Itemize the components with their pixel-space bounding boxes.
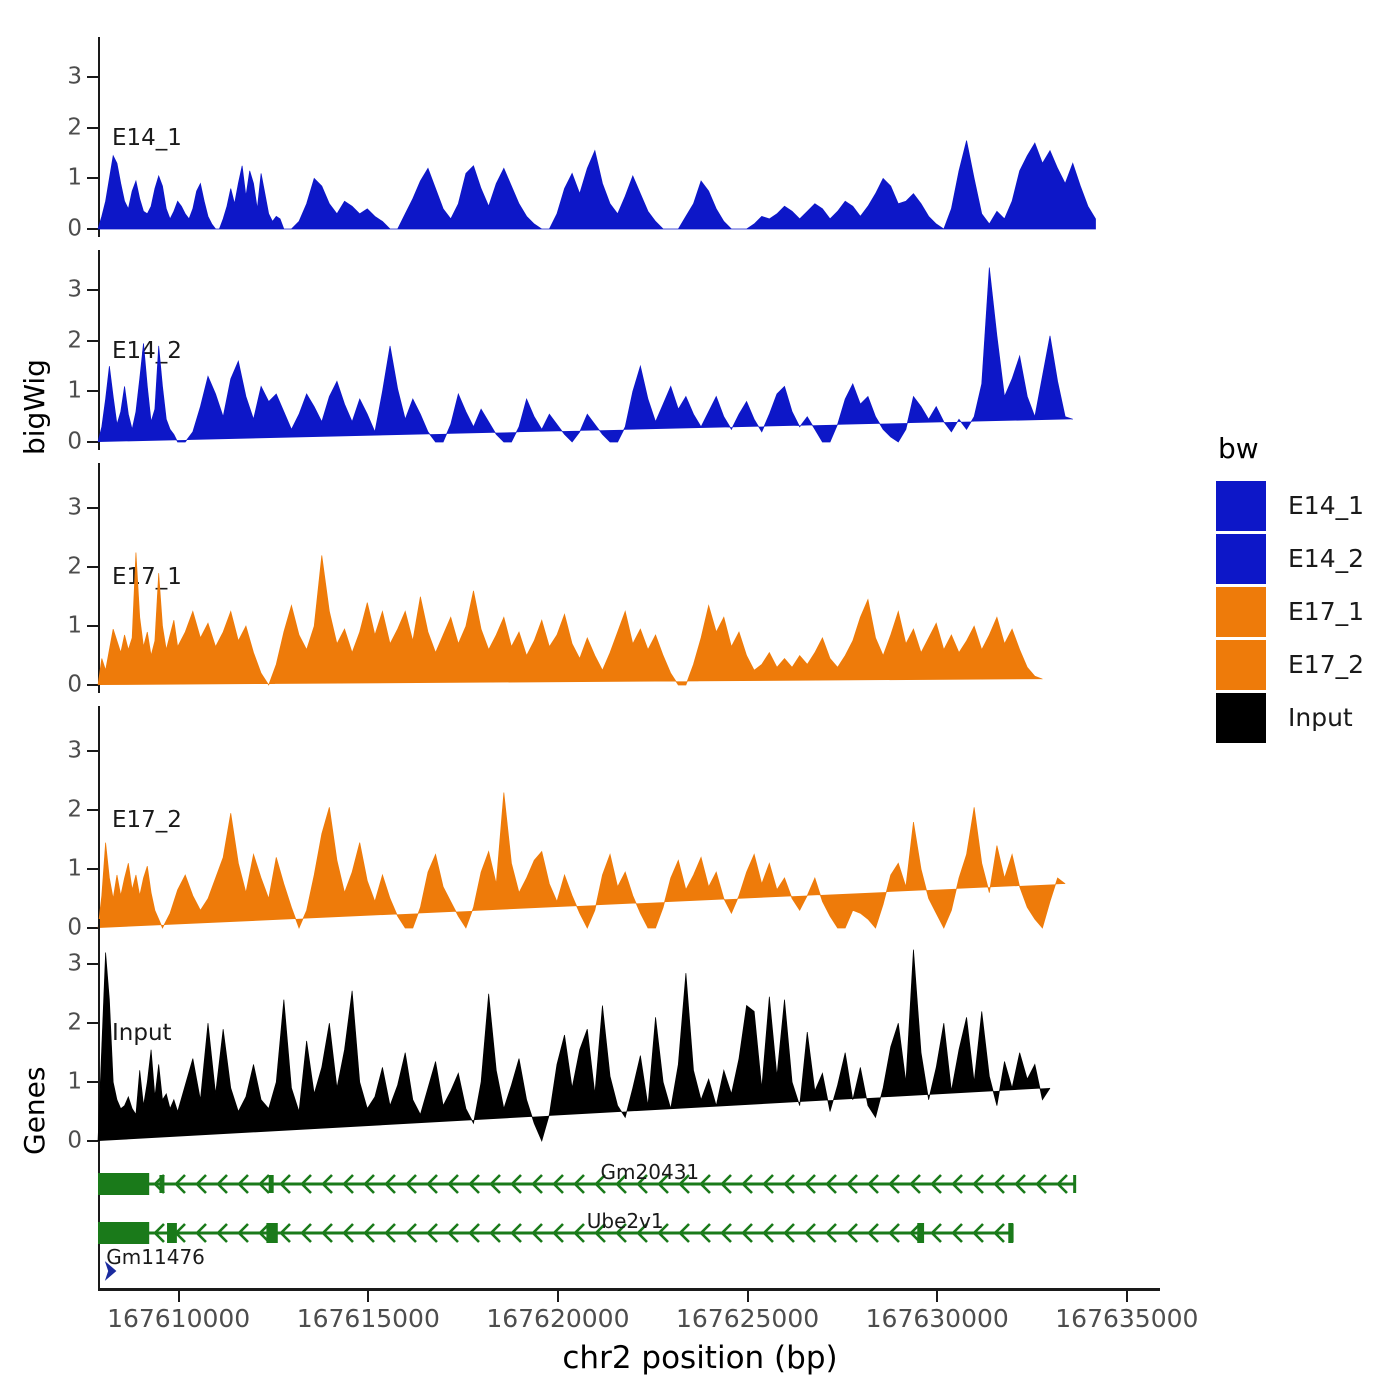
gene-exon [159, 1175, 164, 1193]
y-tick-label: 2 [67, 556, 82, 579]
y-tick-label: 3 [67, 497, 82, 520]
legend-label-e17_2: E17_2 [1288, 650, 1364, 679]
track-panel-e17_1: 0123E17_1 [98, 463, 1160, 693]
y-tick-label: 3 [67, 740, 82, 763]
y-tick-label: 3 [67, 953, 82, 976]
y-tick [87, 340, 98, 342]
x-tick [557, 1291, 559, 1302]
x-tick [178, 1291, 180, 1302]
y-tick-label: 1 [67, 167, 82, 190]
legend-item-e17_1[interactable]: E17_1 [1216, 585, 1364, 638]
legend-item-e17_2[interactable]: E17_2 [1216, 638, 1364, 691]
x-tick [367, 1291, 369, 1302]
x-tick-label: 167625000 [676, 1304, 819, 1333]
gene-exon [98, 1222, 149, 1244]
y-tick-label: 3 [67, 66, 82, 89]
y-axis-title: bigWig [18, 359, 51, 455]
y-tick [87, 228, 98, 230]
y-tick [87, 507, 98, 509]
legend-swatch-e14_2 [1216, 534, 1266, 584]
y-tick [87, 1022, 98, 1024]
y-tick [87, 1140, 98, 1142]
legend-swatch-input [1216, 693, 1266, 743]
y-tick-label: 2 [67, 329, 82, 352]
track-panel-input: 0123Input [98, 919, 1160, 1149]
y-tick-label: 1 [67, 615, 82, 638]
y-tick [87, 76, 98, 78]
y-tick-label: 0 [67, 917, 82, 940]
y-tick-label: 1 [67, 858, 82, 881]
y-tick [87, 441, 98, 443]
track-area-e17_1 [98, 463, 1160, 693]
y-tick [87, 289, 98, 291]
legend-item-e14_1[interactable]: E14_1 [1216, 479, 1364, 532]
y-tick [87, 750, 98, 752]
x-tick [936, 1291, 938, 1302]
gene-exon [917, 1223, 924, 1243]
y-tick [87, 566, 98, 568]
track-area-e14_2 [98, 250, 1160, 450]
track-panel-e14_2: 0123E14_2 [98, 250, 1160, 450]
legend-label-input: Input [1288, 703, 1353, 732]
x-tick-label: 167630000 [866, 1304, 1009, 1333]
figure-root: bigWig Genes 0123E14_10123E14_20123E17_1… [0, 0, 1400, 1400]
x-axis-title: chr2 position (bp) [0, 1340, 1400, 1376]
legend-item-e14_2[interactable]: E14_2 [1216, 532, 1364, 585]
y-tick-label: 2 [67, 116, 82, 139]
x-axis-line [98, 1288, 1160, 1291]
genes-panel: Gm20431Ube2v1Gm11476 [98, 1148, 1160, 1288]
gene-label-gm11476: Gm11476 [106, 1245, 205, 1269]
y-tick [87, 868, 98, 870]
y-tick [87, 684, 98, 686]
track-area-e17_2 [98, 706, 1160, 936]
gene-exon [1008, 1223, 1013, 1243]
legend-label-e17_1: E17_1 [1288, 597, 1364, 626]
gene-label-gm20431: Gm20431 [601, 1160, 700, 1184]
y-tick [87, 625, 98, 627]
x-tick-label: 167615000 [297, 1304, 440, 1333]
track-panel-e17_2: 0123E17_2 [98, 706, 1160, 936]
x-tick-label: 167610000 [107, 1304, 250, 1333]
y-tick [87, 177, 98, 179]
genes-axis-title: Genes [18, 1067, 51, 1155]
track-area-input [98, 919, 1160, 1149]
track-area-e14_1 [98, 37, 1160, 237]
y-tick-label: 0 [67, 431, 82, 454]
y-tick-label: 2 [67, 799, 82, 822]
y-tick-label: 2 [67, 1012, 82, 1035]
gene-exon [266, 1223, 277, 1243]
legend: bw E14_1E14_2E17_1E17_2Input [1216, 432, 1364, 744]
y-tick [87, 963, 98, 965]
legend-swatch-e17_2 [1216, 640, 1266, 690]
gene-exon [98, 1173, 149, 1195]
x-tick-label: 167620000 [486, 1304, 629, 1333]
gene-exon [269, 1175, 274, 1193]
legend-item-input[interactable]: Input [1216, 691, 1364, 744]
x-tick [1126, 1291, 1128, 1302]
y-tick [87, 127, 98, 129]
y-tick [87, 927, 98, 929]
y-tick-label: 3 [67, 279, 82, 302]
y-tick [87, 809, 98, 811]
legend-swatch-e14_1 [1216, 481, 1266, 531]
legend-items: E14_1E14_2E17_1E17_2Input [1216, 479, 1364, 744]
y-tick-label: 0 [67, 218, 82, 241]
x-tick-label: 167635000 [1055, 1304, 1198, 1333]
track-panel-e14_1: 0123E14_1 [98, 37, 1160, 237]
legend-label-e14_1: E14_1 [1288, 491, 1364, 520]
legend-label-e14_2: E14_2 [1288, 544, 1364, 573]
legend-title: bw [1218, 432, 1364, 465]
gene-label-ube2v1: Ube2v1 [587, 1209, 664, 1233]
gene-exon [167, 1223, 177, 1243]
y-tick [87, 1081, 98, 1083]
y-tick-label: 1 [67, 380, 82, 403]
y-tick-label: 0 [67, 1130, 82, 1153]
y-tick [87, 390, 98, 392]
y-tick-label: 0 [67, 674, 82, 697]
x-tick [747, 1291, 749, 1302]
legend-swatch-e17_1 [1216, 587, 1266, 637]
y-tick-label: 1 [67, 1071, 82, 1094]
